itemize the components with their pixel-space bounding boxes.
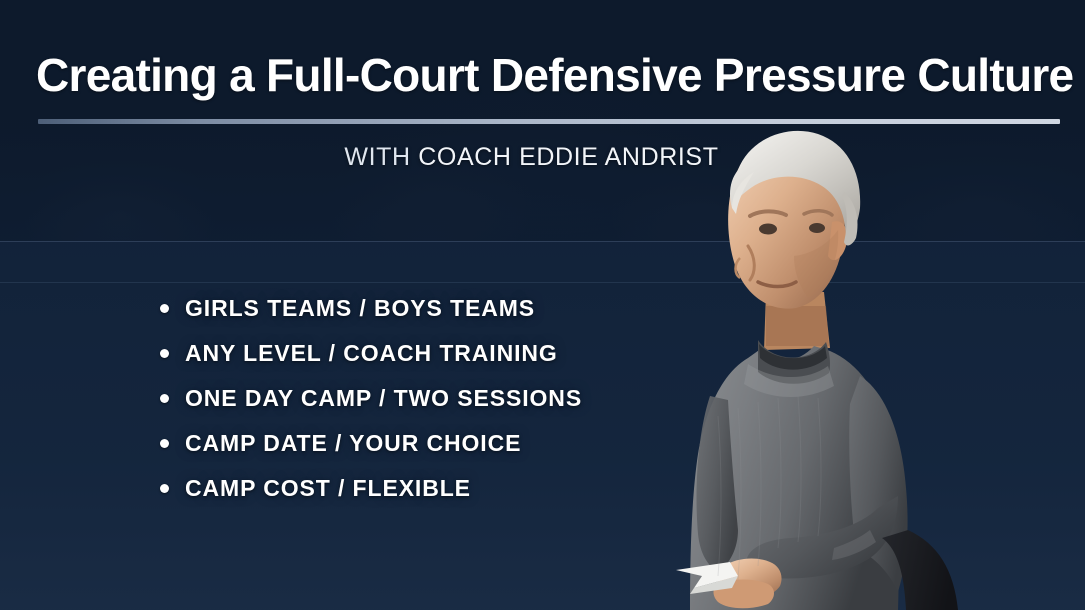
slide-title: Creating a Full-Court Defensive Pressure… bbox=[36, 48, 1056, 102]
bullet-dot-icon bbox=[160, 304, 169, 313]
subtitle-presenter-name: COACH EDDIE ANDRIST bbox=[418, 143, 718, 171]
bullet-label: GIRLS TEAMS / BOYS TEAMS bbox=[185, 295, 535, 322]
bullet-label: CAMP DATE / YOUR CHOICE bbox=[185, 430, 521, 457]
bullet-dot-icon bbox=[160, 439, 169, 448]
presentation-slide: Creating a Full-Court Defensive Pressure… bbox=[0, 0, 1085, 610]
list-item: ANY LEVEL / COACH TRAINING bbox=[160, 331, 582, 376]
list-item: CAMP COST / FLEXIBLE bbox=[160, 466, 582, 511]
title-underline-rule bbox=[38, 119, 1060, 124]
feature-bullet-list: GIRLS TEAMS / BOYS TEAMS ANY LEVEL / COA… bbox=[160, 286, 582, 511]
bullet-label: ONE DAY CAMP / TWO SESSIONS bbox=[185, 385, 582, 412]
bullet-label: ANY LEVEL / COACH TRAINING bbox=[185, 340, 558, 367]
bullet-label: CAMP COST / FLEXIBLE bbox=[185, 475, 471, 502]
list-item: ONE DAY CAMP / TWO SESSIONS bbox=[160, 376, 582, 421]
list-item: CAMP DATE / YOUR CHOICE bbox=[160, 421, 582, 466]
bullet-dot-icon bbox=[160, 484, 169, 493]
slide-subtitle: WITH COACH EDDIE ANDRIST bbox=[0, 143, 1085, 172]
bullet-dot-icon bbox=[160, 349, 169, 358]
list-item: GIRLS TEAMS / BOYS TEAMS bbox=[160, 286, 582, 331]
subtitle-lead-word: WITH bbox=[344, 143, 418, 171]
coach-portrait bbox=[598, 96, 1018, 610]
bullet-dot-icon bbox=[160, 394, 169, 403]
